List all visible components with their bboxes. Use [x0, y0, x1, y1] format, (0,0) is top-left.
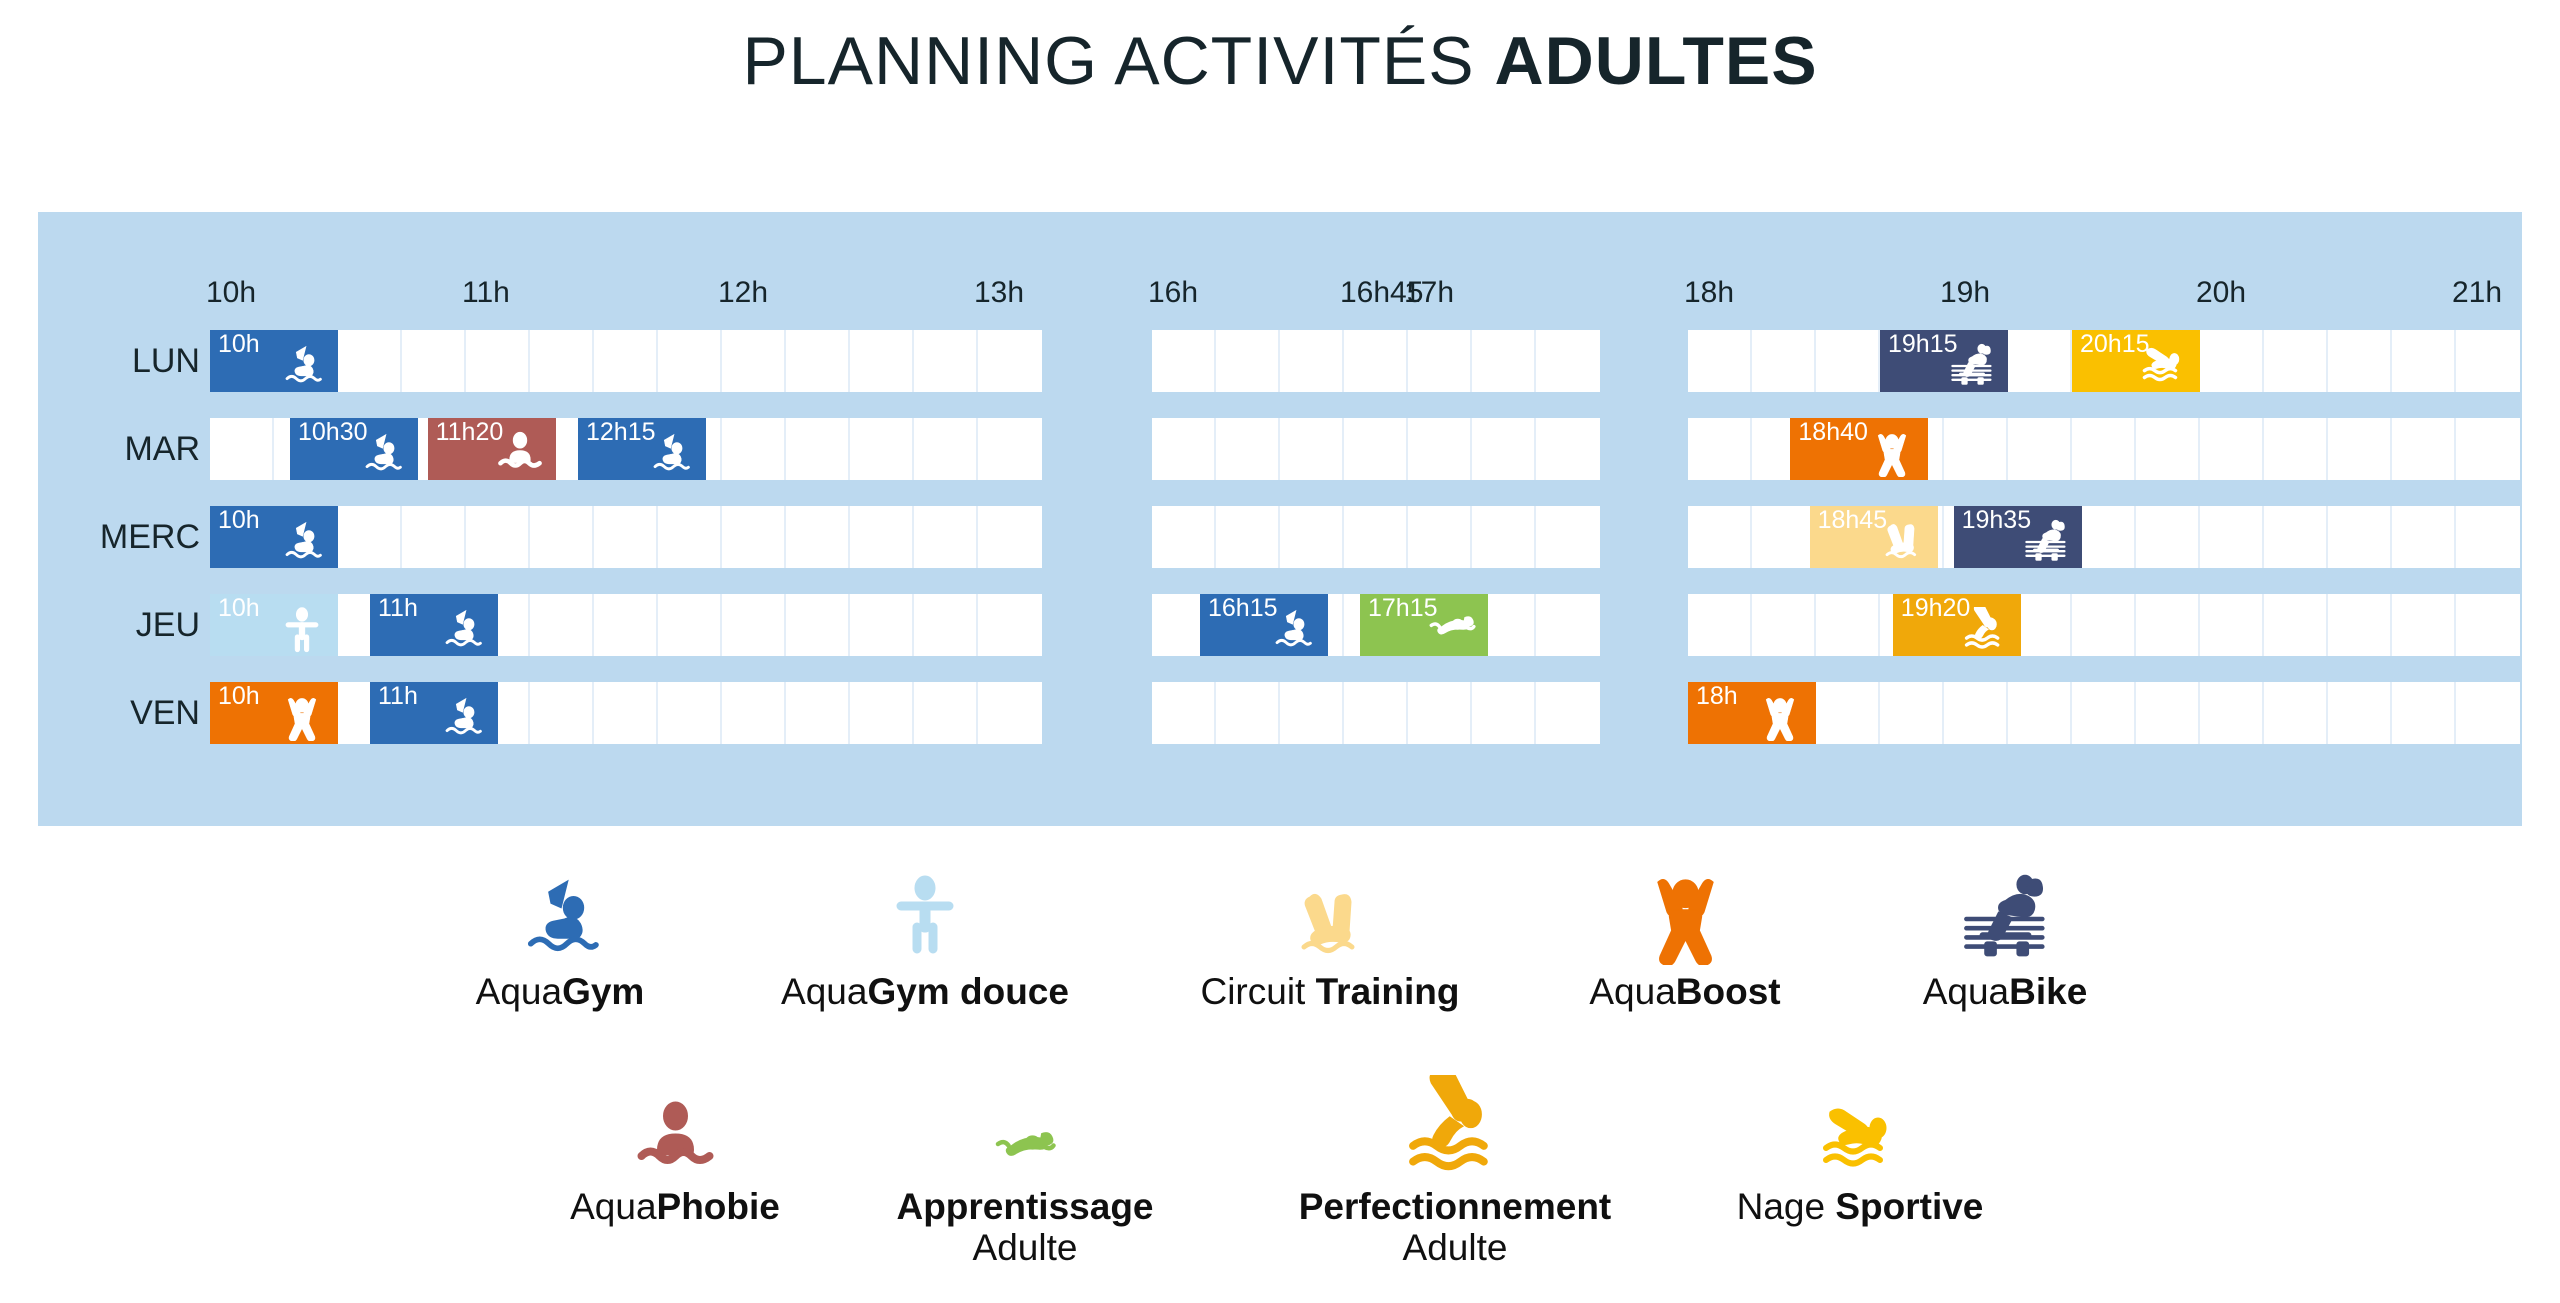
aquagym-icon: [436, 695, 488, 741]
grid-cell[interactable]: [2200, 418, 2264, 480]
grid-cell[interactable]: [1688, 594, 1752, 656]
activity-block-aquaphobie[interactable]: 11h20: [428, 418, 556, 480]
grid-cell[interactable]: [2264, 506, 2328, 568]
grid-cell[interactable]: [1408, 330, 1472, 392]
grid-cell[interactable]: [2072, 594, 2136, 656]
grid-cell[interactable]: [978, 506, 1042, 568]
grid-cell[interactable]: [1216, 418, 1280, 480]
grid-cell[interactable]: [402, 506, 466, 568]
grid-cell[interactable]: [1152, 330, 1216, 392]
grid-cell[interactable]: [1816, 682, 1880, 744]
legend-label-bold: Gym: [562, 971, 644, 1012]
aquagym-icon: [1266, 607, 1318, 653]
grid-row-ven-group1: [1152, 682, 1600, 744]
grid-cell[interactable]: [658, 594, 722, 656]
grid-cell[interactable]: [2264, 594, 2328, 656]
legend-label-bold: Bike: [2009, 971, 2087, 1012]
axis-tick-13h: 13h: [974, 276, 1024, 310]
grid-cell[interactable]: [2456, 506, 2520, 568]
aquaphobie-icon: [495, 1075, 855, 1180]
activity-time: 11h: [378, 595, 418, 621]
grid-cell[interactable]: [914, 330, 978, 392]
grid-cell[interactable]: [722, 594, 786, 656]
grid-cell[interactable]: [1472, 506, 1536, 568]
legend-label-thin: Aqua: [476, 971, 562, 1012]
grid-cell[interactable]: [2072, 682, 2136, 744]
legend-label-thin: Aqua: [1923, 971, 2009, 1012]
perfectionnement-icon: [1275, 1075, 1635, 1180]
grid-cell[interactable]: [1688, 506, 1752, 568]
grid-cell[interactable]: [2200, 330, 2264, 392]
legend-label: Perfectionnement: [1275, 1186, 1635, 1227]
grid-cell[interactable]: [978, 594, 1042, 656]
legend-sublabel: Adulte: [845, 1227, 1205, 1268]
axis-tick-18h: 18h: [1684, 276, 1734, 310]
axis-tick-10h: 10h: [206, 276, 256, 310]
grid-cell[interactable]: [914, 506, 978, 568]
title-thin: PLANNING ACTIVITÉS: [742, 23, 1494, 99]
grid-cell[interactable]: [2456, 418, 2520, 480]
grid-cell[interactable]: [1816, 594, 1880, 656]
axis-tick-16h: 16h: [1148, 276, 1198, 310]
grid-cell[interactable]: [1216, 682, 1280, 744]
grid-cell[interactable]: [1344, 506, 1408, 568]
legend-item-nage_sportive: Nage Sportive: [1680, 1075, 2040, 1227]
grid-cell[interactable]: [2264, 682, 2328, 744]
grid-cell[interactable]: [1280, 682, 1344, 744]
activity-block-aquagym[interactable]: 10h: [210, 506, 338, 568]
legend-label-thin: Aqua: [1589, 971, 1675, 1012]
legend-label: AquaBike: [1825, 971, 2185, 1012]
activity-time: 10h: [218, 507, 260, 533]
activity-block-apprentissage[interactable]: 17h15: [1360, 594, 1488, 656]
grid-cell[interactable]: [722, 506, 786, 568]
grid-cell[interactable]: [2008, 682, 2072, 744]
activity-time: 10h: [218, 683, 260, 709]
activity-block-aquabike[interactable]: 19h35: [1954, 506, 2082, 568]
grid-cell[interactable]: [978, 682, 1042, 744]
legend-label-bold: Phobie: [657, 1186, 780, 1227]
grid-cell[interactable]: [722, 418, 786, 480]
grid-cell[interactable]: [1152, 682, 1216, 744]
activity-time: 18h40: [1798, 419, 1868, 445]
aquagym-douce-icon: [276, 607, 328, 653]
grid-cell[interactable]: [594, 330, 658, 392]
axis-tick-12h: 12h: [718, 276, 768, 310]
activity-block-nage_sportive[interactable]: 20h15: [2072, 330, 2200, 392]
activity-block-aquaboost[interactable]: 18h: [1688, 682, 1816, 744]
apprentissage-icon: [1426, 607, 1478, 653]
aquagym-icon: [644, 431, 696, 477]
grid-row-lun-group1: [1152, 330, 1600, 392]
grid-cell[interactable]: [2392, 330, 2456, 392]
day-label-jeu: JEU: [60, 606, 200, 645]
grid-cell[interactable]: [1344, 330, 1408, 392]
grid-cell[interactable]: [1408, 418, 1472, 480]
grid-cell[interactable]: [722, 682, 786, 744]
grid-cell[interactable]: [2392, 682, 2456, 744]
activity-block-perfectionnement[interactable]: 19h20: [1893, 594, 2021, 656]
grid-cell[interactable]: [1688, 418, 1752, 480]
grid-cell[interactable]: [338, 506, 402, 568]
grid-cell[interactable]: [1688, 330, 1752, 392]
legend-item-aquaboost: AquaBoost: [1505, 860, 1865, 1012]
legend-label-thin: Circuit: [1200, 971, 1315, 1012]
grid-cell[interactable]: [1152, 418, 1216, 480]
grid-cell[interactable]: [1152, 506, 1216, 568]
aquaboost-icon: [1505, 860, 1865, 965]
grid-cell[interactable]: [1280, 418, 1344, 480]
grid-cell[interactable]: [1752, 330, 1816, 392]
grid-cell[interactable]: [786, 506, 850, 568]
grid-cell[interactable]: [530, 506, 594, 568]
grid-cell[interactable]: [2008, 418, 2072, 480]
grid-cell[interactable]: [1472, 330, 1536, 392]
apprentissage-icon: [845, 1075, 1205, 1180]
grid-cell[interactable]: [1216, 506, 1280, 568]
aquagym-douce-icon: [745, 860, 1105, 965]
grid-cell[interactable]: [1408, 506, 1472, 568]
grid-cell[interactable]: [914, 418, 978, 480]
day-label-mar: MAR: [60, 430, 200, 469]
grid-cell[interactable]: [338, 330, 402, 392]
grid-cell[interactable]: [1752, 594, 1816, 656]
activity-block-aquagym[interactable]: 12h15: [578, 418, 706, 480]
aquagym-icon: [380, 860, 740, 965]
activity-block-aquagym[interactable]: 11h: [370, 682, 498, 744]
grid-cell[interactable]: [1216, 330, 1280, 392]
grid-cell[interactable]: [1344, 418, 1408, 480]
legend-label-bold: Sportive: [1835, 1186, 1983, 1227]
grid-cell[interactable]: [2392, 594, 2456, 656]
activity-block-aquaboost[interactable]: 10h: [210, 682, 338, 744]
grid-cell[interactable]: [2456, 330, 2520, 392]
circuit-training-icon: [1150, 860, 1510, 965]
grid-cell[interactable]: [2200, 594, 2264, 656]
aquagym-icon: [436, 607, 488, 653]
legend-label: AquaPhobie: [495, 1186, 855, 1227]
grid-cell[interactable]: [2392, 418, 2456, 480]
aquagym-icon: [276, 343, 328, 389]
circuit-training-icon: [1876, 519, 1928, 565]
legend-item-aquagym_douce: AquaGym douce: [745, 860, 1105, 1012]
grid-cell[interactable]: [1472, 418, 1536, 480]
activity-block-aquaboost[interactable]: 18h40: [1790, 418, 1928, 480]
grid-cell[interactable]: [850, 506, 914, 568]
grid-cell[interactable]: [1944, 418, 2008, 480]
grid-cell[interactable]: [2136, 594, 2200, 656]
grid-cell[interactable]: [2200, 506, 2264, 568]
grid-cell[interactable]: [1280, 506, 1344, 568]
aquabike-icon: [1825, 860, 2185, 965]
grid-cell[interactable]: [402, 330, 466, 392]
legend-label-thin: Aqua: [781, 971, 867, 1012]
grid-cell[interactable]: [658, 506, 722, 568]
grid-cell[interactable]: [594, 506, 658, 568]
legend-label: Nage Sportive: [1680, 1186, 2040, 1227]
grid-cell[interactable]: [850, 330, 914, 392]
activity-block-aquagym[interactable]: 11h: [370, 594, 498, 656]
grid-cell[interactable]: [786, 594, 850, 656]
grid-cell[interactable]: [2328, 418, 2392, 480]
axis-tick-11h: 11h: [462, 276, 510, 310]
perfectionnement-icon: [1959, 607, 2011, 653]
grid-cell[interactable]: [2136, 682, 2200, 744]
legend-label-bold: Perfectionnement: [1299, 1186, 1612, 1227]
legend-item-aquaphobie: AquaPhobie: [495, 1075, 855, 1227]
activity-block-circuit[interactable]: 18h45: [1810, 506, 1938, 568]
grid-cell[interactable]: [914, 594, 978, 656]
legend-label: AquaGym: [380, 971, 740, 1012]
activity-block-aquagym[interactable]: 10h: [210, 330, 338, 392]
day-label-merc: MERC: [60, 518, 200, 557]
legend-label-bold: Gym douce: [867, 971, 1069, 1012]
grid-cell[interactable]: [786, 330, 850, 392]
grid-cell[interactable]: [786, 418, 850, 480]
grid-cell[interactable]: [914, 682, 978, 744]
day-label-lun: LUN: [60, 342, 200, 381]
aquabike-icon: [1946, 343, 1998, 389]
grid-cell[interactable]: [850, 594, 914, 656]
grid-cell[interactable]: [466, 506, 530, 568]
grid-cell[interactable]: [2136, 506, 2200, 568]
legend-label-bold: Training: [1316, 971, 1460, 1012]
grid-cell[interactable]: [1536, 682, 1600, 744]
legend-item-aquabike: AquaBike: [1825, 860, 2185, 1012]
grid-row-jeu-group2: [1688, 594, 2520, 656]
aquaboost-icon: [1754, 695, 1806, 741]
grid-cell[interactable]: [2392, 506, 2456, 568]
grid-cell[interactable]: [658, 330, 722, 392]
grid-row-merc-group1: [1152, 506, 1600, 568]
grid-cell[interactable]: [2456, 594, 2520, 656]
grid-cell[interactable]: [658, 682, 722, 744]
legend-label: AquaBoost: [1505, 971, 1865, 1012]
grid-cell[interactable]: [2456, 682, 2520, 744]
grid-cell[interactable]: [978, 418, 1042, 480]
grid-cell[interactable]: [1944, 682, 2008, 744]
legend-item-apprentissage: ApprentissageAdulte: [845, 1075, 1205, 1269]
legend-label: AquaGym douce: [745, 971, 1105, 1012]
grid-cell[interactable]: [594, 594, 658, 656]
axis-tick-20h: 20h: [2196, 276, 2246, 310]
legend-label-bold: Apprentissage: [896, 1186, 1153, 1227]
legend-label-thin: Aqua: [570, 1186, 656, 1227]
grid-cell[interactable]: [1280, 330, 1344, 392]
aquagym-icon: [276, 519, 328, 565]
day-label-ven: VEN: [60, 694, 200, 733]
grid-cell[interactable]: [530, 682, 594, 744]
grid-row-mar-group1: [1152, 418, 1600, 480]
grid-cell[interactable]: [2072, 418, 2136, 480]
aquaboost-icon: [276, 695, 328, 741]
title-bold: ADULTES: [1495, 23, 1818, 99]
activity-time: 11h: [378, 683, 418, 709]
activity-block-aquagym_douce[interactable]: 10h: [210, 594, 338, 656]
nage-sportive-icon: [1680, 1075, 2040, 1180]
activity-time: 10h: [218, 331, 260, 357]
grid-cell[interactable]: [530, 330, 594, 392]
nage-sportive-icon: [2138, 343, 2190, 389]
aquaphobie-icon: [494, 431, 546, 477]
grid-cell[interactable]: [2264, 418, 2328, 480]
grid-cell[interactable]: [1880, 682, 1944, 744]
grid-cell[interactable]: [978, 330, 1042, 392]
legend-label-thin: Nage: [1737, 1186, 1836, 1227]
legend-label-bold: Boost: [1676, 971, 1781, 1012]
grid-cell[interactable]: [466, 330, 530, 392]
legend-item-perfectionnement: PerfectionnementAdulte: [1275, 1075, 1635, 1269]
axis-tick-21h: 21h: [2452, 276, 2502, 310]
grid-cell[interactable]: [1536, 594, 1600, 656]
legend-item-circuit: Circuit Training: [1150, 860, 1510, 1012]
grid-cell[interactable]: [786, 682, 850, 744]
grid-cell[interactable]: [594, 682, 658, 744]
axis-tick-19h: 19h: [1940, 276, 1990, 310]
grid-cell[interactable]: [2200, 682, 2264, 744]
legend-label: Apprentissage: [845, 1186, 1205, 1227]
grid-cell[interactable]: [2328, 594, 2392, 656]
activity-block-aquabike[interactable]: 19h15: [1880, 330, 2008, 392]
activity-block-aquagym[interactable]: 16h15: [1200, 594, 1328, 656]
grid-cell[interactable]: [1536, 418, 1600, 480]
aquagym-icon: [356, 431, 408, 477]
grid-cell[interactable]: [1536, 506, 1600, 568]
grid-cell[interactable]: [722, 330, 786, 392]
legend-item-aquagym: AquaGym: [380, 860, 740, 1012]
grid-cell[interactable]: [2136, 418, 2200, 480]
grid-cell[interactable]: [1472, 682, 1536, 744]
grid-cell[interactable]: [2328, 506, 2392, 568]
legend-label: Circuit Training: [1150, 971, 1510, 1012]
grid-cell[interactable]: [2264, 330, 2328, 392]
grid-cell[interactable]: [1816, 330, 1880, 392]
legend-sublabel: Adulte: [1275, 1227, 1635, 1268]
activity-time: 18h: [1696, 683, 1738, 709]
aquabike-icon: [2020, 519, 2072, 565]
grid-cell[interactable]: [2328, 682, 2392, 744]
grid-cell[interactable]: [2328, 330, 2392, 392]
activity-time: 10h: [218, 595, 260, 621]
grid-cell[interactable]: [2008, 330, 2072, 392]
activity-block-aquagym[interactable]: 10h30: [290, 418, 418, 480]
grid-cell[interactable]: [530, 594, 594, 656]
grid-cell[interactable]: [1408, 682, 1472, 744]
page-title: PLANNING ACTIVITÉS ADULTES: [0, 22, 2560, 100]
grid-cell[interactable]: [1536, 330, 1600, 392]
aquaboost-icon: [1866, 431, 1918, 477]
grid-cell[interactable]: [850, 418, 914, 480]
grid-cell[interactable]: [850, 682, 914, 744]
axis-tick-17h: 17h: [1404, 276, 1454, 310]
grid-cell[interactable]: [1752, 506, 1816, 568]
grid-cell[interactable]: [1344, 682, 1408, 744]
grid-cell[interactable]: [210, 418, 274, 480]
grid-cell[interactable]: [2072, 506, 2136, 568]
